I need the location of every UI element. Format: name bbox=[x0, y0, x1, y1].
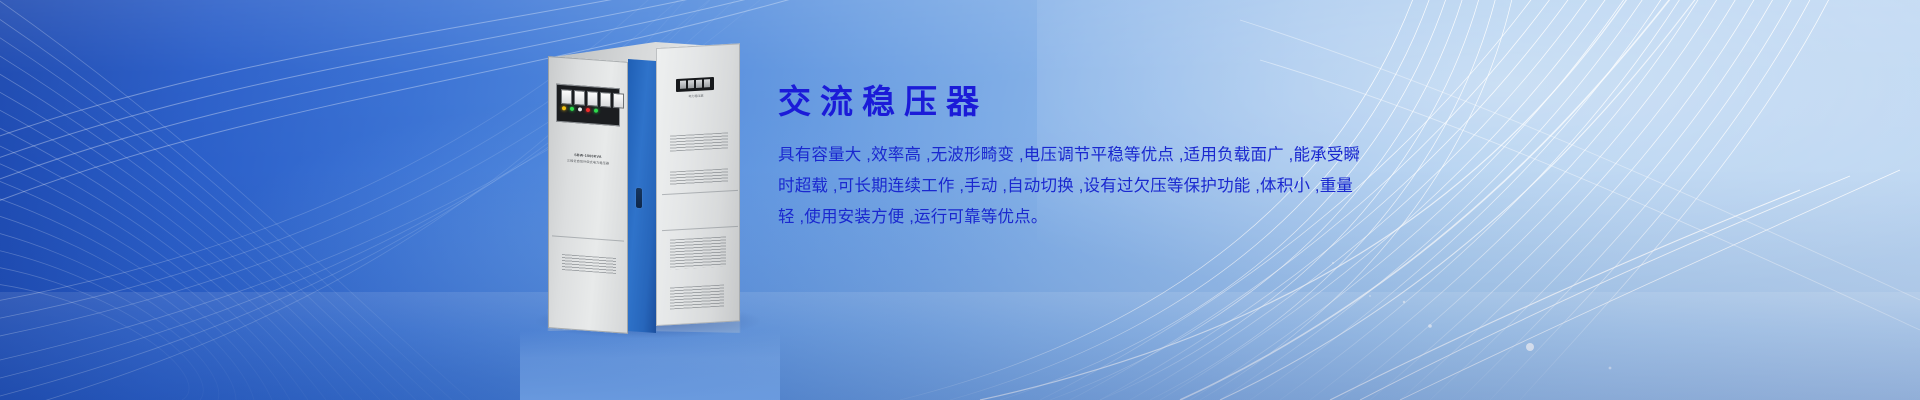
indicator-lamp-green bbox=[570, 107, 574, 111]
banner-description: 具有容量大 ,效率高 ,无波形畸变 ,电压调节平稳等优点 ,适用负载面广 ,能承… bbox=[778, 140, 1438, 233]
product-image-voltage-stabilizer: SBW-1000KVA 三相全自动补偿式电力稳压器 电力稳压器 bbox=[548, 42, 748, 342]
banner-headline: 交流稳压器 bbox=[778, 84, 1438, 120]
cabinet-display-badge bbox=[676, 77, 714, 92]
control-panel bbox=[556, 84, 620, 127]
indicator-lamp-white bbox=[578, 107, 582, 111]
cabinet-vent-louvers bbox=[670, 132, 728, 151]
meter-gauge bbox=[587, 91, 598, 107]
display-digit bbox=[680, 81, 686, 89]
cabinet-vent-louvers bbox=[670, 284, 724, 309]
indicator-lamp-green bbox=[594, 108, 598, 112]
meter-gauge bbox=[561, 89, 572, 105]
meter-gauge bbox=[574, 90, 585, 106]
display-digit bbox=[688, 80, 694, 88]
description-line-1: 具有容量大 ,效率高 ,无波形畸变 ,电压调节平稳等优点 ,适用负载面广 ,能承… bbox=[778, 140, 1438, 171]
panel-meters bbox=[561, 89, 624, 109]
cabinet-vent-louvers bbox=[670, 236, 726, 269]
indicator-lamp-yellow bbox=[562, 106, 566, 110]
display-digit bbox=[696, 80, 702, 88]
indicator-lamp-red bbox=[586, 108, 590, 112]
product-banner: SBW-1000KVA 三相全自动补偿式电力稳压器 电力稳压器 交流稳压器 具有… bbox=[0, 0, 1920, 400]
banner-copy-block: 交流稳压器 具有容量大 ,效率高 ,无波形畸变 ,电压调节平稳等优点 ,适用负载… bbox=[778, 84, 1438, 233]
panel-indicator-lamps bbox=[562, 106, 598, 113]
meter-gauge bbox=[600, 92, 611, 108]
cabinet-door-blue-strip bbox=[628, 59, 656, 333]
display-digit bbox=[704, 79, 710, 87]
description-line-3: 轻 ,使用安装方便 ,运行可靠等优点。 bbox=[778, 202, 1438, 233]
description-line-2: 时超载 ,可长期连续工作 ,手动 ,自动切换 ,设有过欠压等保护功能 ,体积小 … bbox=[778, 171, 1438, 202]
cabinet-door-handle bbox=[636, 188, 642, 208]
meter-gauge bbox=[613, 93, 624, 109]
